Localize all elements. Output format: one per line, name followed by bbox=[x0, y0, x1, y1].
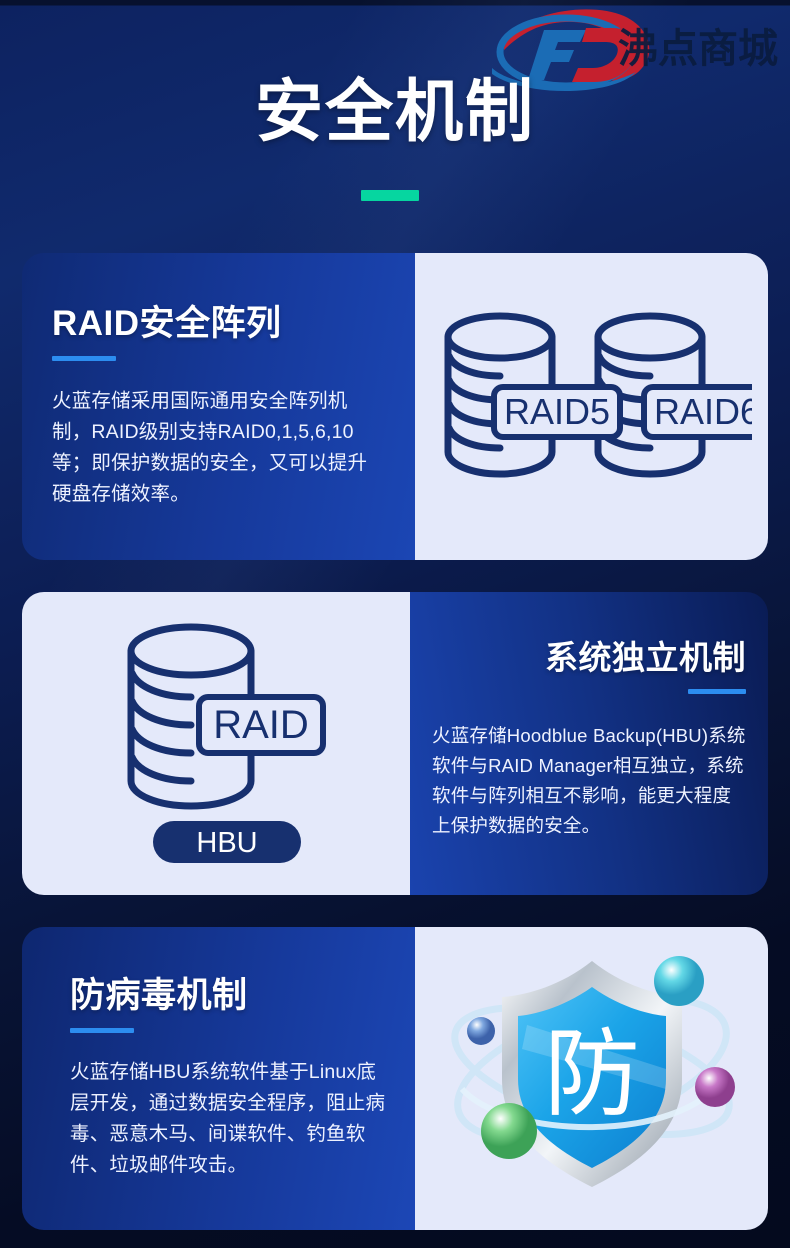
card-illustration-pane: 防 bbox=[415, 927, 768, 1230]
card-title: RAID安全阵列 bbox=[52, 303, 381, 345]
card-text-pane: 防病毒机制 火蓝存储HBU系统软件基于Linux底层开发，通过数据安全程序，阻止… bbox=[22, 927, 415, 1230]
card-title-rule bbox=[688, 689, 746, 694]
card-title: 系统独立机制 bbox=[432, 638, 746, 678]
hbu-badge-label: HBU bbox=[196, 827, 257, 859]
orbit-sphere-blue bbox=[467, 1017, 495, 1045]
card-body: 火蓝存储采用国际通用安全阵列机制，RAID级别支持RAID0,1,5,6,10等… bbox=[52, 386, 381, 510]
page-root: 沸点商城 安全机制 RAID安全阵列 火蓝存储采用国际通用安全阵列机制，RAID… bbox=[0, 0, 790, 1248]
card-text-pane: RAID安全阵列 火蓝存储采用国际通用安全阵列机制，RAID级别支持RAID0,… bbox=[22, 253, 415, 560]
card-illustration-pane: RAID5 RAID6 bbox=[415, 253, 768, 560]
title-underline-accent bbox=[361, 190, 419, 201]
page-title: 安全机制 bbox=[0, 72, 790, 152]
shield-character-label: 防 bbox=[544, 1021, 640, 1128]
feature-card-antivirus: 防病毒机制 火蓝存储HBU系统软件基于Linux底层开发，通过数据安全程序，阻止… bbox=[22, 927, 768, 1230]
orbit-sphere-green bbox=[481, 1103, 537, 1159]
card-title-rule bbox=[52, 356, 116, 361]
feature-card-raid-array: RAID安全阵列 火蓝存储采用国际通用安全阵列机制，RAID级别支持RAID0,… bbox=[22, 253, 768, 560]
card-body: 火蓝存储Hoodblue Backup(HBU)系统软件与RAID Manage… bbox=[432, 721, 746, 841]
raid6-label: RAID6 bbox=[653, 391, 751, 432]
raid5-label: RAID5 bbox=[503, 391, 609, 432]
feature-card-system-independence: RAID HBU 系统独立机制 火蓝存储Hoodblue Backup(HBU)… bbox=[22, 592, 768, 895]
antivirus-shield-icon: 防 bbox=[427, 939, 757, 1219]
card-text-pane: 系统独立机制 火蓝存储Hoodblue Backup(HBU)系统软件与RAID… bbox=[410, 592, 768, 895]
brand-name-text: 沸点商城 bbox=[618, 27, 778, 71]
card-title-rule bbox=[70, 1028, 134, 1033]
card-title: 防病毒机制 bbox=[70, 975, 387, 1017]
card-body: 火蓝存储HBU系统软件基于Linux底层开发，通过数据安全程序，阻止病毒、恶意木… bbox=[70, 1057, 387, 1181]
raid-disks-icon: RAID5 RAID6 bbox=[432, 292, 752, 522]
raid-label: RAID bbox=[213, 703, 309, 747]
card-illustration-pane: RAID HBU bbox=[22, 592, 410, 895]
raid-hbu-disk-icon: RAID HBU bbox=[71, 609, 361, 879]
orbit-sphere-purple bbox=[695, 1067, 735, 1107]
orbit-sphere-teal bbox=[654, 956, 704, 1006]
